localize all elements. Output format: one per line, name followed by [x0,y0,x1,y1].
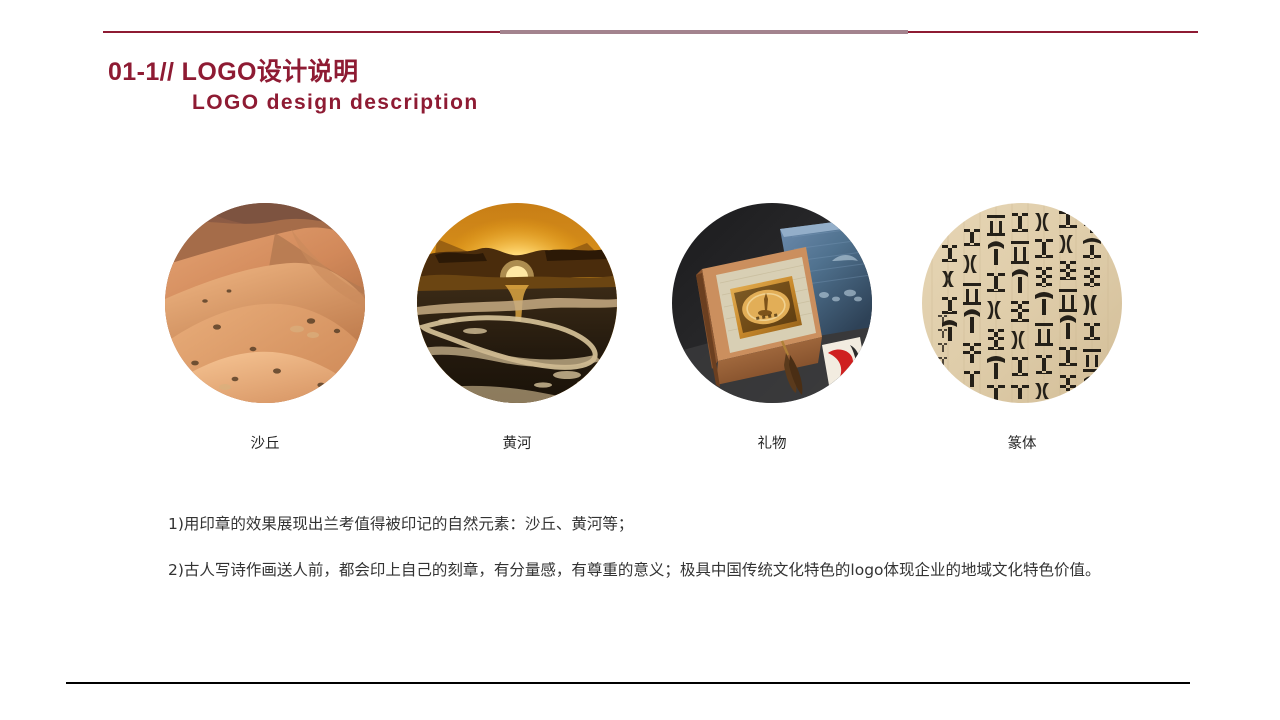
header-divider [103,30,1198,35]
gallery-item: 篆体 [922,203,1122,452]
header-divider-segment-middle [500,30,908,34]
seal-script-illustration [922,203,1122,403]
gallery-item-caption: 礼物 [672,437,872,452]
header-divider-segment-right [908,31,1198,33]
sand-dunes-illustration [165,203,365,403]
description-paragraph-1: 1)用印章的效果展现出兰考值得被印记的自然元素：沙丘、黄河等； [168,512,1128,536]
yellow-river-sunset-illustration [417,203,617,403]
description-text-block: 1)用印章的效果展现出兰考值得被印记的自然元素：沙丘、黄河等； 2)古人写诗作画… [168,512,1128,582]
page-title: 01-1// LOGO设计说明 [108,52,358,88]
gallery-item-caption: 篆体 [922,437,1122,452]
yellow-river-sunset-photo [417,203,617,403]
seal-script-calligraphy-photo [922,203,1122,403]
gift-box-illustration [672,203,872,403]
image-gallery: 沙丘 [0,203,1280,483]
header-divider-segment-left [103,31,500,33]
gallery-item: 礼物 [672,203,872,452]
footer-divider [66,682,1190,684]
gallery-item-caption: 沙丘 [165,437,365,452]
gift-box-photo [672,203,872,403]
gallery-item: 黄河 [417,203,617,452]
sand-dunes-photo [165,203,365,403]
description-paragraph-2: 2)古人写诗作画送人前，都会印上自己的刻章，有分量感，有尊重的意义；极具中国传统… [168,558,1128,582]
page-subtitle: LOGO design description [192,91,479,115]
gallery-item: 沙丘 [165,203,365,452]
gallery-item-caption: 黄河 [417,437,617,452]
